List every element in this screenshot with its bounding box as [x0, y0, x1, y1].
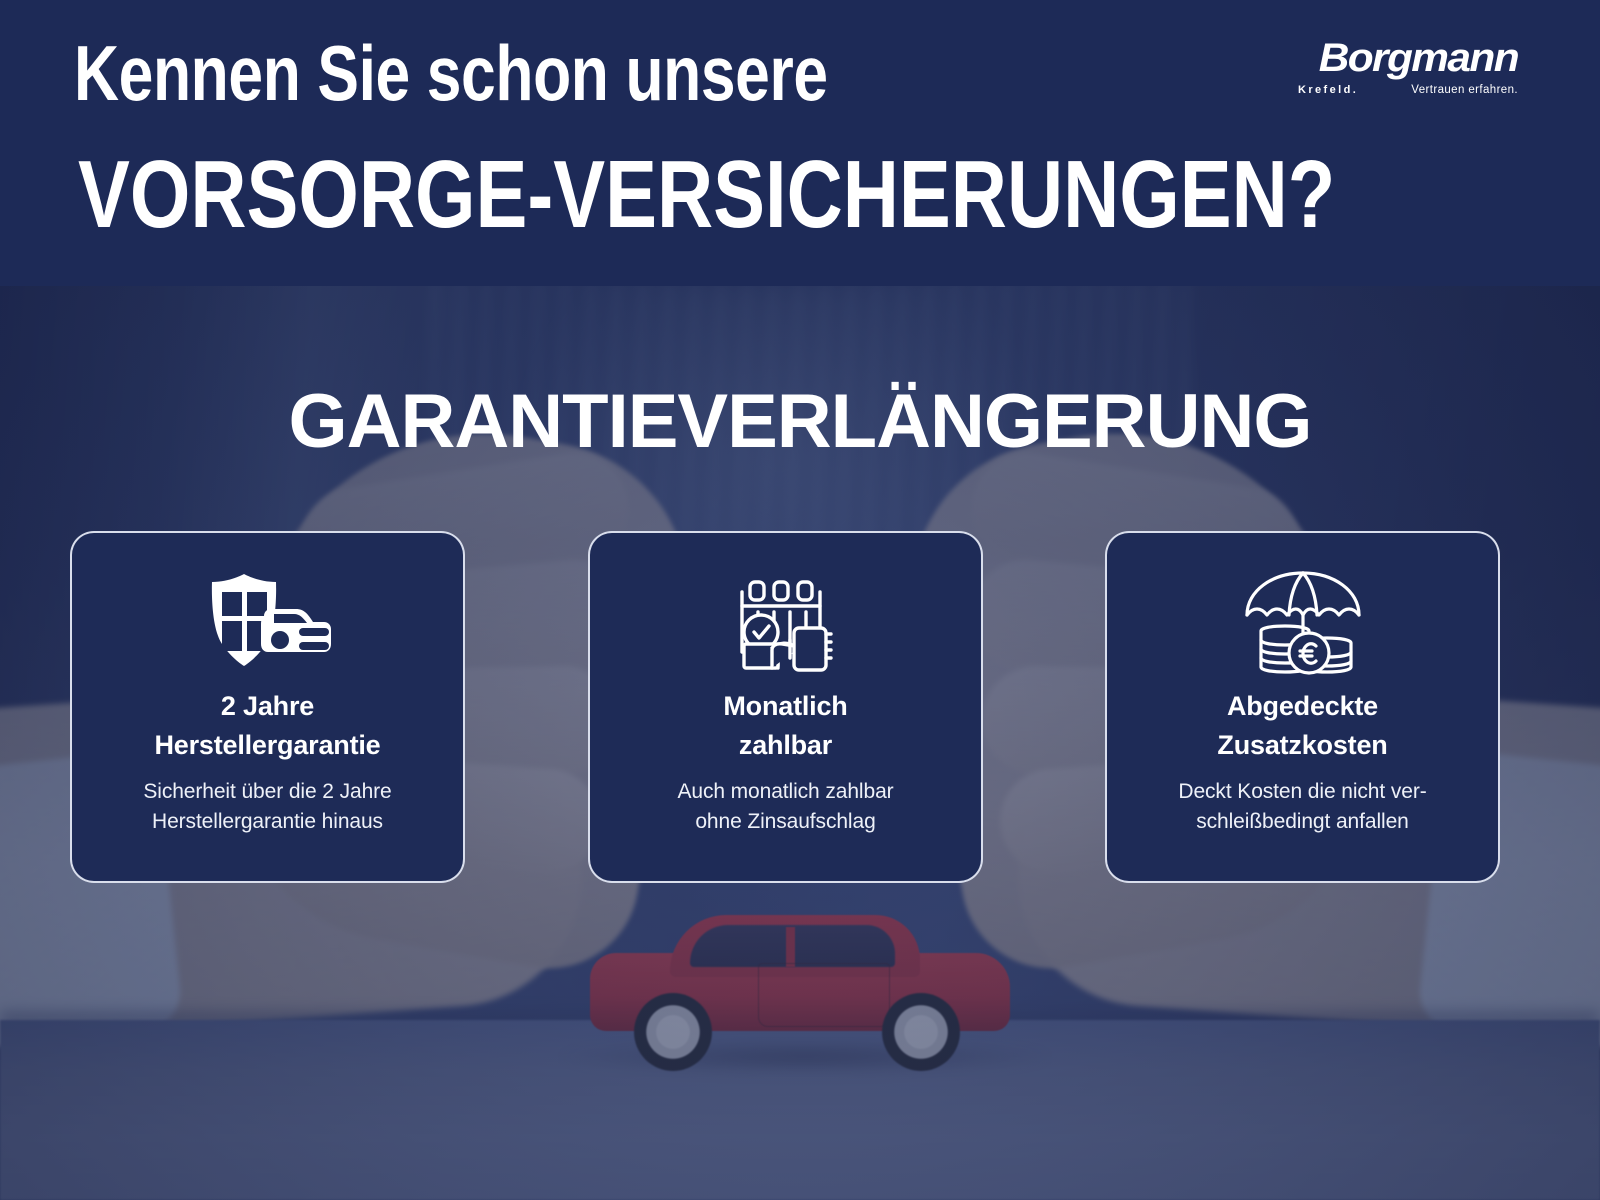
feature-card-extra-costs[interactable]: Abgedeckte Zusatzkosten Deckt Kosten die…	[1105, 531, 1500, 883]
card-title-line-1: 2 Jahre	[221, 691, 314, 721]
header-band: Kennen Sie schon unsere VORSORGE-VERSICH…	[0, 0, 1600, 286]
card-title-line-2: zahlbar	[739, 730, 832, 760]
logo-claim: Vertrauen erfahren.	[1411, 84, 1518, 96]
card-title-line-2: Herstellergarantie	[154, 730, 380, 760]
card-desc-line-1: Deckt Kosten die nicht ver-	[1178, 780, 1426, 803]
feature-card-monthly-payment[interactable]: Monatlich zahlbar Auch monatlich zahlbar…	[588, 531, 983, 883]
card-desc-line-2: Herstellergarantie hinaus	[152, 810, 383, 833]
logo-wordmark: Borgmann	[1285, 36, 1518, 81]
card-desc-line-1: Sicherheit über die 2 Jahre	[143, 780, 391, 803]
card-description: Deckt Kosten die nicht ver- schleißbedin…	[1178, 777, 1426, 837]
umbrella-euro-coins-icon	[1239, 563, 1367, 681]
card-description: Sicherheit über die 2 Jahre Herstellerga…	[143, 777, 391, 837]
promo-banner: Kennen Sie schon unsere VORSORGE-VERSICH…	[0, 0, 1600, 1200]
headline-line-1: Kennen Sie schon unsere	[74, 28, 828, 119]
card-title: Abgedeckte Zusatzkosten	[1217, 687, 1387, 765]
card-title: 2 Jahre Herstellergarantie	[154, 687, 380, 765]
feature-cards: 2 Jahre Herstellergarantie Sicherheit üb…	[0, 531, 1600, 886]
feature-card-warranty[interactable]: 2 Jahre Herstellergarantie Sicherheit üb…	[70, 531, 465, 883]
card-title: Monatlich zahlbar	[723, 687, 847, 765]
calendar-check-cash-icon	[728, 563, 844, 681]
logo-city: Krefeld.	[1298, 84, 1358, 96]
main-title: GARANTIEVERLÄNGERUNG	[0, 378, 1600, 465]
card-description: Auch monatlich zahlbar ohne Zinsaufschla…	[677, 777, 893, 837]
borgmann-logo[interactable]: Borgmann Krefeld. Vertrauen erfahren.	[1298, 38, 1518, 110]
card-title-line-1: Monatlich	[723, 691, 847, 721]
card-desc-line-1: Auch monatlich zahlbar	[677, 780, 893, 803]
logo-subline: Krefeld. Vertrauen erfahren.	[1298, 84, 1518, 96]
shield-car-icon	[204, 563, 332, 681]
card-title-line-2: Zusatzkosten	[1217, 730, 1387, 760]
card-desc-line-2: ohne Zinsaufschlag	[695, 810, 875, 833]
card-title-line-1: Abgedeckte	[1227, 691, 1378, 721]
headline-line-2: VORSORGE-VERSICHERUNGEN?	[78, 140, 1335, 250]
card-desc-line-2: schleißbedingt anfallen	[1196, 810, 1409, 833]
